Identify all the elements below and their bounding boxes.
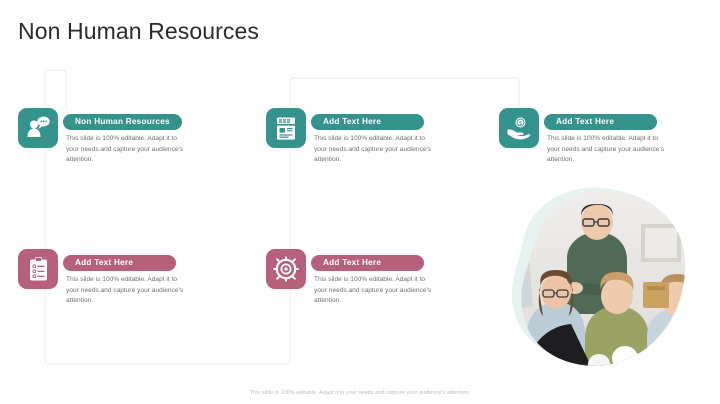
- hand-holding-coin-icon: $: [499, 108, 539, 148]
- card-2-body: Add Text Here This slide is 100% editabl…: [314, 108, 436, 166]
- card-2-description: This slide is 100% editable. Adapt it to…: [314, 134, 432, 166]
- team-photo: [493, 182, 689, 368]
- card-4[interactable]: Add Text Here This slide is 100% editabl…: [18, 249, 188, 307]
- card-3[interactable]: $ Add Text Here This slide is 100% edita…: [499, 108, 669, 166]
- card-4-label[interactable]: Add Text Here: [63, 255, 176, 271]
- card-1[interactable]: Non Human Resources This slide is 100% e…: [18, 108, 188, 166]
- person-speech-bubble-icon: [18, 108, 58, 148]
- card-5-body: Add Text Here This slide is 100% editabl…: [314, 249, 436, 307]
- card-1-label[interactable]: Non Human Resources: [63, 114, 182, 130]
- footer-note: This slide is 100% editable. Adapt it to…: [0, 390, 720, 396]
- card-5-description: This slide is 100% editable. Adapt it to…: [314, 275, 432, 307]
- team-photo-image: [499, 186, 695, 372]
- card-2[interactable]: Add Text Here This slide is 100% editabl…: [266, 108, 436, 166]
- card-5-label[interactable]: Add Text Here: [311, 255, 424, 271]
- card-1-description: This slide is 100% editable. Adapt it to…: [66, 134, 184, 166]
- card-2-label[interactable]: Add Text Here: [311, 114, 424, 130]
- card-3-description: This slide is 100% editable. Adapt it to…: [547, 134, 665, 166]
- card-3-label[interactable]: Add Text Here: [544, 114, 657, 130]
- page-title: Non Human Resources: [18, 18, 259, 45]
- slide-canvas: Non Human Resources: [0, 0, 720, 404]
- card-5[interactable]: Add Text Here This slide is 100% editabl…: [266, 249, 436, 307]
- target-gear-icon: [266, 249, 306, 289]
- clipboard-checklist-icon: [18, 249, 58, 289]
- card-4-description: This slide is 100% editable. Adapt it to…: [66, 275, 184, 307]
- card-1-body: Non Human Resources This slide is 100% e…: [66, 108, 188, 166]
- server-document-icon: [266, 108, 306, 148]
- card-4-body: Add Text Here This slide is 100% editabl…: [66, 249, 188, 307]
- svg-text:$: $: [519, 121, 522, 127]
- card-3-body: Add Text Here This slide is 100% editabl…: [547, 108, 669, 166]
